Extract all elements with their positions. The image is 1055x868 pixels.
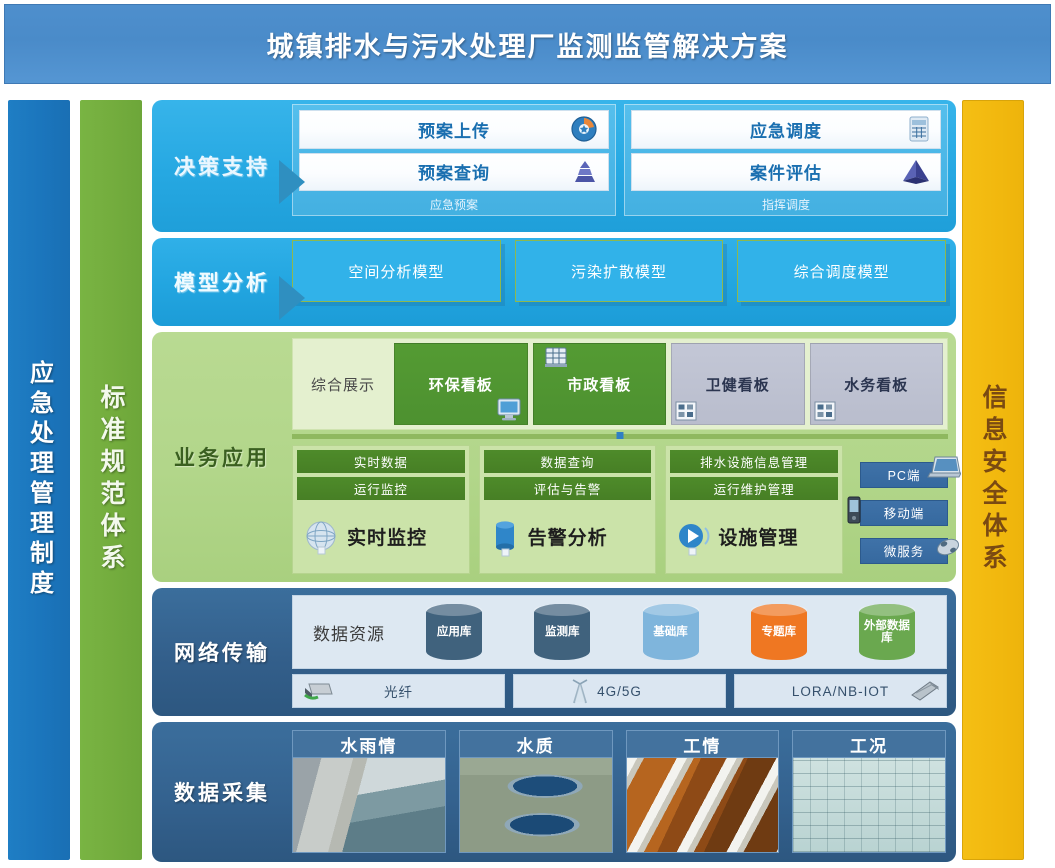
decision-group-caption-command-dispatch: 指挥调度 <box>631 196 941 213</box>
transmission-link-strip: 光纤 4G/5G <box>292 674 947 708</box>
building-icon <box>542 344 570 370</box>
chip-data-query[interactable]: 数据查询 <box>484 450 652 473</box>
database-external: 外部数据库 <box>859 604 915 660</box>
page-title: 城镇排水与污水处理厂监测监管解决方案 <box>267 25 789 64</box>
database-cell-application[interactable]: 应用库 <box>403 604 505 660</box>
architecture-diagram: 城镇排水与污水处理厂监测监管解决方案 应急处理管理制度 标准规范体系 信息安全体… <box>0 0 1055 868</box>
link-lora[interactable]: LORA/NB-IOT <box>734 674 947 708</box>
link-cellular-label: 4G/5G <box>597 684 642 699</box>
dashboard-card-municipal[interactable]: 市政看板 <box>533 343 667 425</box>
database-cell-external[interactable]: 外部数据库 <box>836 604 938 660</box>
pillar-emergency-management-policy: 应急处理管理制度 <box>8 100 70 860</box>
title-banner: 城镇排水与污水处理厂监测监管解决方案 <box>4 4 1051 84</box>
model-box-pollution-diffusion-label: 污染扩散模型 <box>571 261 667 282</box>
collection-card-operating-status-label: 工况 <box>792 730 946 758</box>
monitor-icon <box>495 396 523 422</box>
pillar-label-security: 信息安全体系 <box>975 384 1011 576</box>
database-thematic-label: 专题库 <box>761 626 796 638</box>
database-cylinder-icon <box>488 517 522 557</box>
pillar-information-security-system: 信息安全体系 <box>962 100 1024 860</box>
dashboard-card-environment-label: 环保看板 <box>429 374 493 395</box>
client-button-microservice-label: 微服务 <box>884 541 925 560</box>
levee-river-photo <box>292 758 446 853</box>
button-plan-upload-label: 预案上传 <box>418 117 490 142</box>
layer-data-collection: 数据采集 水雨情 水质 工情 工 <box>152 722 956 862</box>
layer-label-network-transmission: 网络传输 <box>152 588 292 716</box>
decision-group-emergency-plan: 预案上传 预案查询 <box>292 104 616 216</box>
layer-network-transmission: 网络传输 数据资源 应用库 监测库 <box>152 588 956 716</box>
data-resource-strip: 数据资源 应用库 监测库 <box>292 595 947 669</box>
database-monitoring-label: 监测库 <box>545 626 580 638</box>
dashboard-card-water-affairs-label: 水务看板 <box>844 374 908 395</box>
mobile-phone-icon <box>844 495 864 525</box>
model-box-pollution-diffusion[interactable]: 污染扩散模型 <box>515 240 724 302</box>
chip-operation-monitoring-label: 运行监控 <box>354 479 408 498</box>
database-basic-label: 基础库 <box>653 626 688 638</box>
collection-card-hydrology-label: 水雨情 <box>292 730 446 758</box>
collection-card-works-condition[interactable]: 工情 <box>626 730 780 853</box>
dashboard-card-municipal-label: 市政看板 <box>567 374 631 395</box>
chip-operation-maintenance-label: 运行维护管理 <box>714 479 795 498</box>
chip-operation-monitoring[interactable]: 运行监控 <box>297 477 465 500</box>
data-resource-lead-label: 数据资源 <box>301 620 397 645</box>
layer-label-decision-support: 决策支持 <box>152 151 292 181</box>
pyramid-chart-icon <box>571 159 599 185</box>
collection-card-hydrology[interactable]: 水雨情 <box>292 730 446 853</box>
scada-diagram-photo <box>792 758 946 853</box>
collection-card-water-quality[interactable]: 水质 <box>459 730 613 853</box>
dashboard-strip: 综合展示 环保看板 <box>292 338 948 430</box>
chip-assessment-alarm[interactable]: 评估与告警 <box>484 477 652 500</box>
compass-globe-icon <box>569 114 599 144</box>
business-footer-alarm[interactable]: 告警分析 <box>484 504 652 569</box>
client-button-pc-label: PC端 <box>888 465 921 484</box>
sedimentation-tanks-photo <box>459 758 613 853</box>
dashboard-card-health-label: 卫健看板 <box>706 374 770 395</box>
link-cellular[interactable]: 4G/5G <box>513 674 726 708</box>
button-emergency-dispatch[interactable]: 应急调度 <box>631 110 941 149</box>
database-cell-basic[interactable]: 基础库 <box>619 604 721 660</box>
pyramid-3d-icon <box>901 158 931 186</box>
lora-module-icon <box>906 679 942 703</box>
chip-operation-maintenance[interactable]: 运行维护管理 <box>670 477 838 500</box>
client-button-mobile[interactable]: 移动端 <box>860 500 948 526</box>
chip-data-query-label: 数据查询 <box>541 452 595 471</box>
client-button-mobile-label: 移动端 <box>884 503 925 522</box>
grid-table-icon <box>907 115 931 143</box>
business-column-alarm: 数据查询 评估与告警 <box>479 445 657 574</box>
link-fiber-label: 光纤 <box>384 681 413 701</box>
layer-stack: 决策支持 预案上传 <box>152 98 956 864</box>
model-box-integrated-dispatch-label: 综合调度模型 <box>794 261 890 282</box>
database-cell-thematic[interactable]: 专题库 <box>728 604 830 660</box>
database-basic: 基础库 <box>643 604 699 660</box>
play-circle-icon <box>674 517 712 557</box>
client-button-pc[interactable]: PC端 <box>860 462 948 488</box>
decision-group-caption-emergency-plan: 应急预案 <box>299 196 609 213</box>
dashboard-card-environment[interactable]: 环保看板 <box>394 343 528 425</box>
button-plan-query-label: 预案查询 <box>418 159 490 184</box>
client-button-group: PC端 移动端 <box>860 451 948 574</box>
chip-drainage-facility-info-label: 排水设施信息管理 <box>700 452 808 471</box>
collection-card-operating-status[interactable]: 工况 <box>792 730 946 853</box>
pillar-label-standard: 标准规范体系 <box>93 384 129 576</box>
database-application: 应用库 <box>426 604 482 660</box>
cell-tower-icon <box>569 677 591 705</box>
collection-card-works-condition-label: 工情 <box>626 730 780 758</box>
fiber-cable-icon <box>301 680 335 702</box>
chip-realtime-data-label: 实时数据 <box>354 452 408 471</box>
link-fiber[interactable]: 光纤 <box>292 674 505 708</box>
database-cell-monitoring[interactable]: 监测库 <box>511 604 613 660</box>
business-column-facility: 排水设施信息管理 运行维护管理 <box>665 445 843 574</box>
dashboard-card-water-affairs[interactable]: 水务看板 <box>810 343 944 425</box>
database-thematic: 专题库 <box>751 604 807 660</box>
layer-label-model-analysis: 模型分析 <box>152 267 292 297</box>
dashboard-divider <box>292 434 948 439</box>
layer-label-business-application: 业务应用 <box>152 332 292 582</box>
chip-drainage-facility-info[interactable]: 排水设施信息管理 <box>670 450 838 473</box>
dashboard-card-health[interactable]: 卫健看板 <box>671 343 805 425</box>
chip-realtime-data[interactable]: 实时数据 <box>297 450 465 473</box>
layer-model-analysis: 模型分析 空间分析模型 污染扩散模型 综合调度模型 <box>152 238 956 326</box>
laptop-icon <box>927 454 961 480</box>
business-footer-facility[interactable]: 设施管理 <box>670 504 838 569</box>
chip-assessment-alarm-label: 评估与告警 <box>534 479 602 498</box>
pipeline-trench-photo <box>626 758 780 853</box>
model-box-integrated-dispatch[interactable]: 综合调度模型 <box>737 240 946 302</box>
pillar-standard-specification-system: 标准规范体系 <box>80 100 142 860</box>
business-footer-realtime[interactable]: 实时监控 <box>297 504 465 569</box>
dashboard-lead-label: 综合展示 <box>297 343 389 425</box>
layer-label-data-collection: 数据采集 <box>152 722 292 862</box>
database-monitoring: 监测库 <box>534 604 590 660</box>
network-node-icon <box>814 401 836 421</box>
client-button-microservice[interactable]: 微服务 <box>860 538 948 564</box>
business-footer-alarm-label: 告警分析 <box>528 523 608 550</box>
link-lora-label: LORA/NB-IOT <box>792 684 889 699</box>
business-footer-facility-label: 设施管理 <box>718 523 798 550</box>
business-footer-realtime-label: 实时监控 <box>347 523 427 550</box>
collection-card-water-quality-label: 水质 <box>459 730 613 758</box>
model-box-spatial[interactable]: 空间分析模型 <box>292 240 501 302</box>
button-case-assessment[interactable]: 案件评估 <box>631 153 941 192</box>
model-box-spatial-label: 空间分析模型 <box>348 261 444 282</box>
layer-business-application: 业务应用 综合展示 环保看板 <box>152 332 956 582</box>
database-application-label: 应用库 <box>437 626 472 638</box>
pillar-label-policy: 应急处理管理制度 <box>22 360 57 600</box>
button-plan-query[interactable]: 预案查询 <box>299 153 609 192</box>
decision-group-command-dispatch: 应急调度 <box>624 104 948 216</box>
globe-icon <box>301 517 341 557</box>
network-node-icon <box>675 401 697 421</box>
button-plan-upload[interactable]: 预案上传 <box>299 110 609 149</box>
layer-decision-support: 决策支持 预案上传 <box>152 100 956 232</box>
button-emergency-dispatch-label: 应急调度 <box>750 117 822 142</box>
database-external-label: 外部数据库 <box>859 620 915 644</box>
microservice-icon <box>933 533 963 559</box>
button-case-assessment-label: 案件评估 <box>750 159 822 184</box>
business-column-realtime: 实时数据 运行监控 <box>292 445 470 574</box>
